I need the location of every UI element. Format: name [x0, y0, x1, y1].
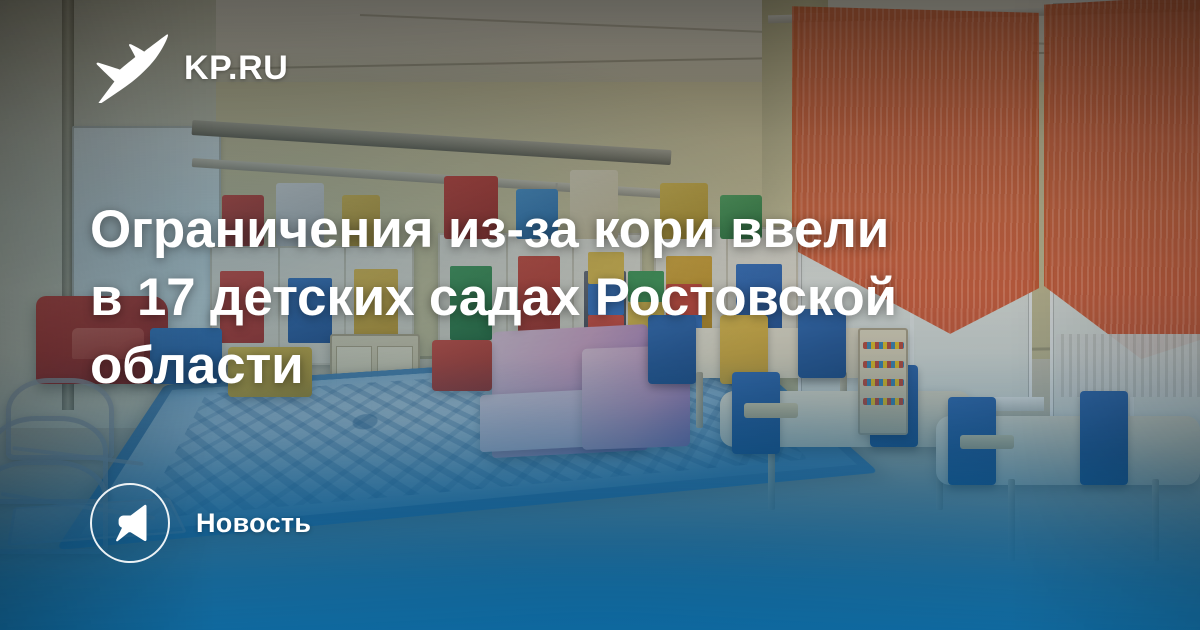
badge-icon-circle	[90, 483, 170, 563]
page-title: Ограничения из-за кори ввели в 17 детски…	[90, 196, 990, 400]
brand-name: KP.RU	[184, 51, 288, 85]
brand-logo-group[interactable]: KP.RU	[90, 33, 288, 103]
card-content: KP.RU Ограничения из-за кори ввели в 17 …	[0, 0, 1200, 630]
social-share-card: KP.RU Ограничения из-за кори ввели в 17 …	[0, 0, 1200, 630]
megaphone-icon	[109, 502, 151, 544]
badge-label: Новость	[196, 510, 311, 537]
swallow-bird-icon	[90, 33, 168, 103]
status-badge[interactable]: Новость	[90, 483, 311, 563]
